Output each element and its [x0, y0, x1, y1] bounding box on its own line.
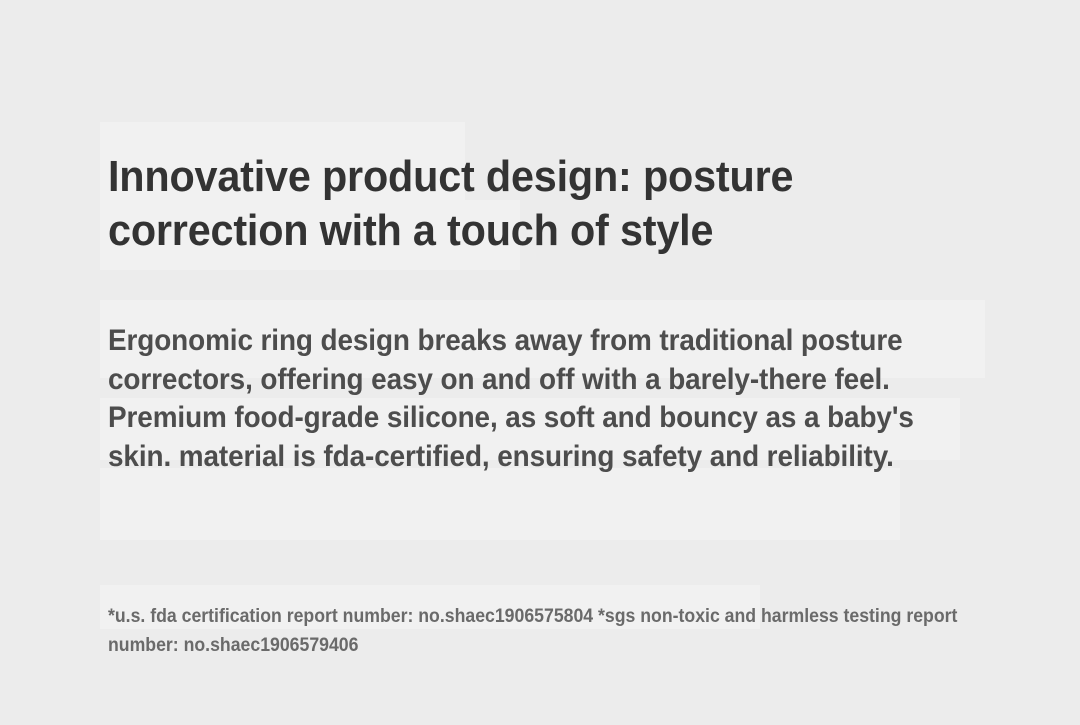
background-panel-body-lower: [100, 468, 900, 540]
page-title: Innovative product design: posture corre…: [108, 150, 935, 258]
product-description-paragraph: Ergonomic ring design breaks away from t…: [108, 322, 978, 476]
certification-footnote: *u.s. fda certification report number: n…: [108, 602, 964, 660]
product-description-slide: Innovative product design: posture corre…: [0, 0, 1080, 725]
